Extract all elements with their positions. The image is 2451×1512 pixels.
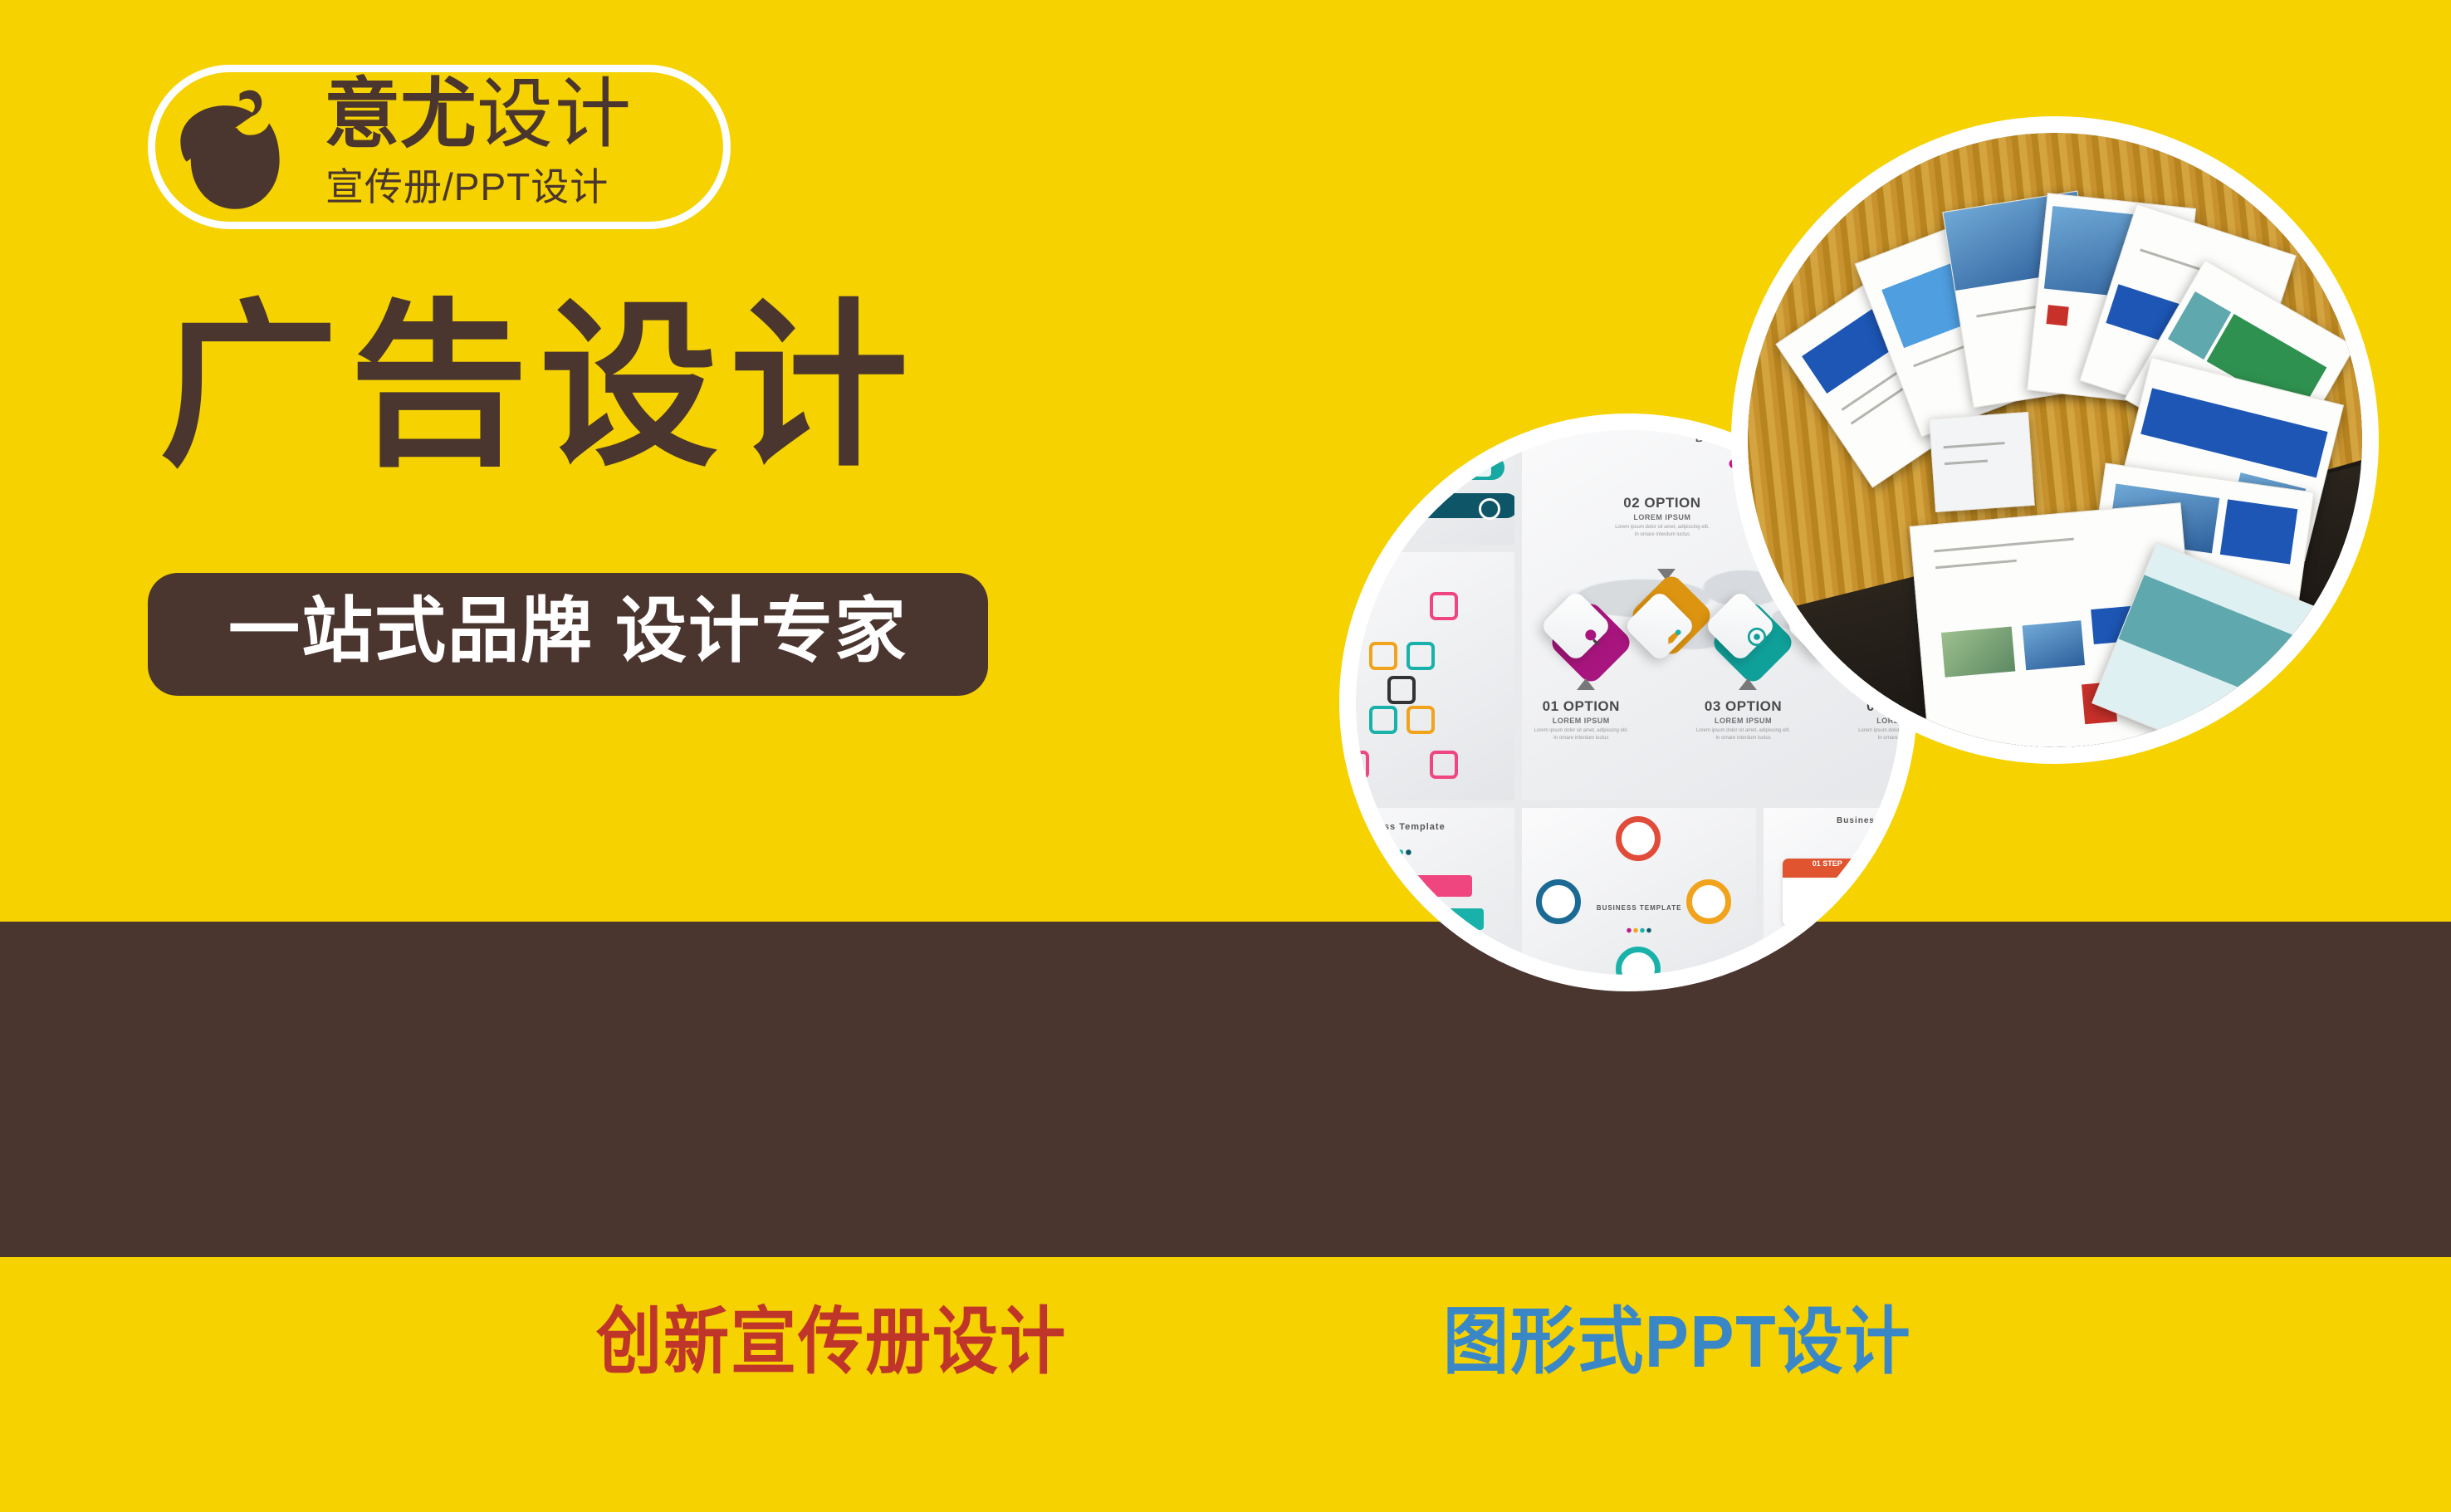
cross-node [1369,706,1397,734]
ppt-tile-hex-cycle: BUSINESS TEMPLATE [1522,808,1757,975]
arrow-up-icon [1577,678,1595,690]
ppt-tile-cross [1356,552,1514,800]
ppt-tile-pyramid: Business Template [1356,808,1514,975]
cross-node [1407,642,1435,670]
ppt-option-01: 01 OPTION LOREM IPSUM Lorem ipsum dolor … [1531,698,1631,742]
tagline-badge: 一站式品牌 设计专家 [148,573,988,696]
step-card: 03 STEP [1783,938,1871,975]
pyramid-title: Business Template [1356,822,1446,832]
logo-title-light: 设计 [477,72,633,157]
photo-inner [1748,133,2362,747]
ppt-option-02: 02 OPTION LOREM IPSUM Lorem ipsum dolor … [1612,495,1712,539]
cross-node [1430,751,1458,779]
promo-banner: 意尤设计 宣传册/PPT设计 广告设计 一站式品牌 设计专家 BUSIN [0,0,2451,1512]
tagline-text: 一站式品牌 设计专家 [228,595,908,667]
step-card: 02 STEP [1888,859,1901,926]
step-card: 04 STEP [1888,938,1901,975]
page-title: 广告设计 [159,297,920,476]
steps-title: Business Template [1837,816,1901,825]
cross-node [1407,706,1435,734]
palette-dot [1382,849,1388,855]
cross-node [1356,751,1369,779]
cross-center-node [1387,676,1416,704]
step-card: 01 STEP [1783,859,1871,926]
palette-dot [1390,849,1396,855]
eggplant-mascot-icon [163,73,311,221]
caption-ppt-design: 图形式PPT设计 [1443,1305,1911,1378]
brand-logo: 意尤设计 宣传册/PPT设计 [148,65,731,229]
cross-node [1369,642,1397,670]
caption-brochure-design: 创新宣传册设计 [596,1305,1067,1378]
ppt-tile-steps: Business Template 01 STEP 02 STEP 03 STE… [1764,808,1901,975]
hex-title: BUSINESS TEMPLATE [1597,904,1682,912]
pyramid-dots [1382,849,1411,855]
highlight-band [0,922,2451,1257]
logo-subtitle: 宣传册/PPT设计 [325,168,609,206]
rocket-icon [1665,626,1686,648]
ppt-tile-ribbons [1356,430,1514,545]
logo-title: 意尤设计 [324,76,633,153]
cross-node [1356,592,1369,620]
palette-dot [1407,849,1412,855]
magnifier-icon [1582,626,1603,648]
printed-brochures-photo [1731,116,2379,764]
cross-node [1430,592,1458,620]
logo-title-bold: 意尤 [324,72,477,157]
palette-dot [1398,849,1404,855]
business-card-holder [1929,412,2035,512]
